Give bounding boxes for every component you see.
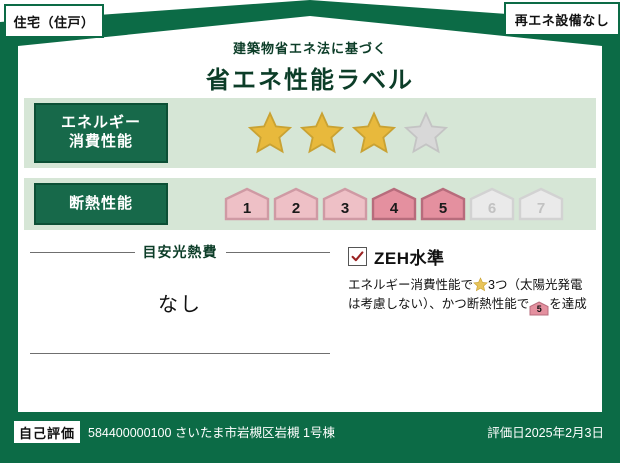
- utility-cost-section: 目安光熱費 なし: [30, 242, 330, 354]
- insulation-label: 断熱性能: [34, 183, 168, 225]
- insulation-level-value: 3: [341, 200, 349, 221]
- heading-rule-left: [30, 252, 135, 253]
- insulation-level-value: 1: [243, 200, 251, 221]
- check-icon: [351, 250, 364, 263]
- energy-consumption-row: エネルギー 消費性能: [24, 98, 596, 168]
- star-filled-icon: [352, 111, 396, 155]
- zeh-title-text: ZEH水準: [374, 244, 445, 269]
- energy-label-line1: エネルギー: [61, 114, 141, 133]
- star-filled-icon: [248, 111, 292, 155]
- footer-id-address: 584400000100 さいたま市岩槻区岩槻 1号棟: [88, 422, 335, 441]
- title-subtitle: 建築物省エネ法に基づく: [0, 38, 620, 57]
- zeh-desc-starcount: 3つ（太陽光発電: [488, 278, 582, 292]
- heading-rule-right: [226, 252, 331, 253]
- star-rating: [168, 111, 596, 155]
- energy-consumption-label: エネルギー 消費性能: [34, 103, 168, 163]
- insulation-level-value: 2: [292, 200, 300, 221]
- insulation-level-value: 4: [390, 200, 398, 221]
- frame-left-border: [0, 60, 18, 412]
- utility-cost-heading-text: 目安光熱費: [135, 242, 226, 262]
- insulation-level-4: 4: [371, 187, 417, 221]
- insulation-level-scale: 1234567: [224, 187, 567, 221]
- insulation-level-value: 5: [439, 200, 447, 221]
- inline-star-icon: [473, 277, 488, 292]
- title-block: 建築物省エネ法に基づく 省エネ性能ラベル: [0, 38, 620, 95]
- energy-performance-label: 住宅（住戸） 再エネ設備なし 建築物省エネ法に基づく 省エネ性能ラベル エネルギ…: [0, 0, 620, 463]
- inline-badge-value: 5: [529, 301, 549, 318]
- footer-eval-date: 評価日2025年2月3日: [487, 422, 604, 441]
- insulation-level-3: 3: [322, 187, 368, 221]
- zeh-desc-part1: エネルギー消費性能で: [348, 278, 473, 292]
- utility-cost-value: なし: [30, 288, 330, 317]
- insulation-level-5: 5: [420, 187, 466, 221]
- insulation-row: 断熱性能 1234567: [24, 178, 596, 230]
- zeh-checkbox[interactable]: [348, 247, 367, 266]
- energy-label-line2: 消費性能: [61, 133, 141, 152]
- zeh-description: エネルギー消費性能で3つ（太陽光発電 は考慮しない）、かつ断熱性能で5を達成: [348, 276, 600, 316]
- insulation-level-2: 2: [273, 187, 319, 221]
- insulation-level-value: 6: [488, 200, 496, 221]
- content-panel: エネルギー 消費性能 断熱性能 1234567 目安光熱費 なし: [18, 92, 602, 412]
- badge-renewable-energy: 再エネ設備なし: [504, 2, 620, 36]
- page-title: 省エネ性能ラベル: [0, 60, 620, 95]
- insulation-level-6: 6: [469, 187, 515, 221]
- evaluation-type-badge: 自己評価: [14, 421, 80, 443]
- zeh-desc-part2: は考慮しない）、かつ断熱性能で: [348, 297, 529, 311]
- frame-right-border: [602, 60, 620, 412]
- insulation-level-7: 7: [518, 187, 564, 221]
- zeh-section: ZEH水準 エネルギー消費性能で3つ（太陽光発電 は考慮しない）、かつ断熱性能で…: [348, 244, 600, 316]
- zeh-desc-part3: を達成: [549, 297, 587, 311]
- utility-cost-heading: 目安光熱費: [30, 242, 330, 262]
- badge-building-type: 住宅（住戸）: [4, 4, 104, 38]
- inline-insulation-badge: 5: [529, 301, 549, 316]
- utility-cost-divider: [30, 353, 330, 354]
- insulation-level-value: 7: [537, 200, 545, 221]
- star-empty-icon: [404, 111, 448, 155]
- insulation-level-1: 1: [224, 187, 270, 221]
- zeh-title-row: ZEH水準: [348, 244, 600, 269]
- star-filled-icon: [300, 111, 344, 155]
